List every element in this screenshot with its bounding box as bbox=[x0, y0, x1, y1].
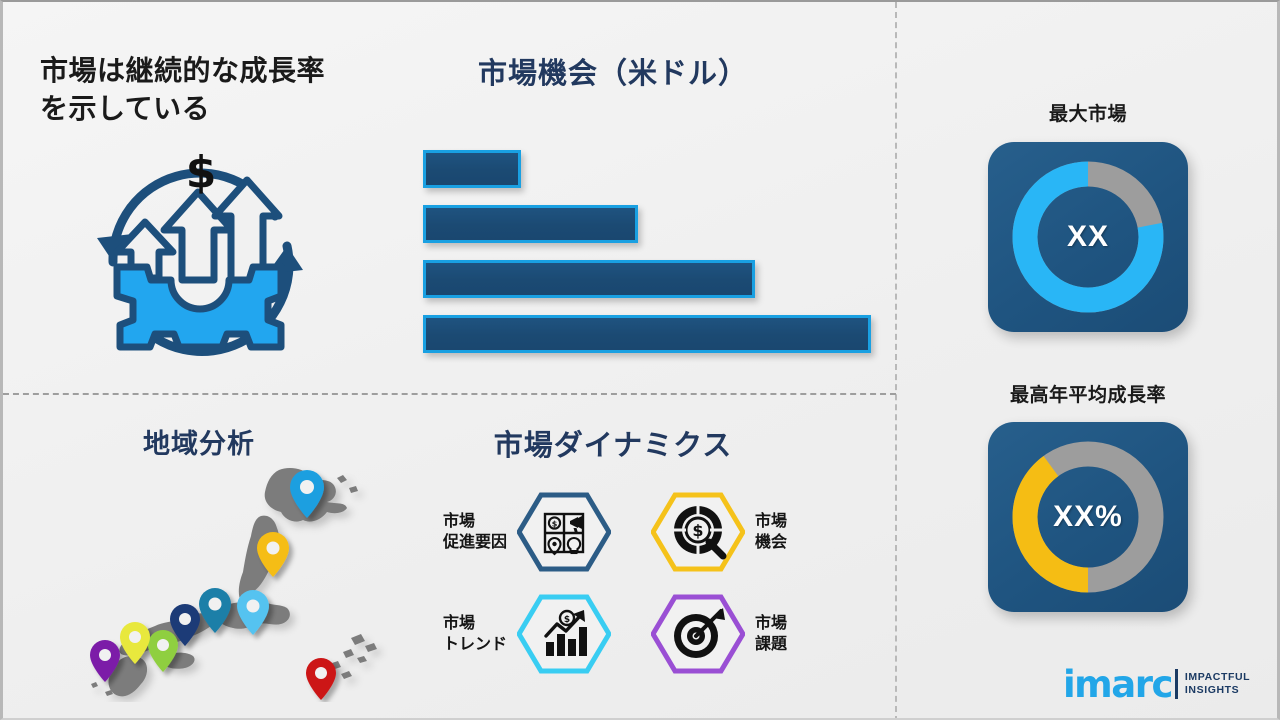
pin-okinawa bbox=[306, 658, 336, 700]
svg-text:$: $ bbox=[552, 520, 558, 529]
kpi-card-highest-cagr: XX% bbox=[988, 422, 1188, 612]
dynamics-label-trends: 市場 トレンド bbox=[443, 613, 507, 655]
kpi-card-largest-market: XX bbox=[988, 142, 1188, 332]
logo-tagline-line2: INSIGHTS bbox=[1185, 684, 1250, 697]
dynamics-label-challenges: 市場 課題 bbox=[755, 613, 787, 655]
growth-headline: 市場は継続的な成長率 を示している bbox=[40, 52, 390, 127]
bar-row-3 bbox=[423, 315, 871, 353]
kpi-value-largest-market: XX bbox=[988, 142, 1188, 332]
kpi-title-highest-cagr: 最高年平均成長率 bbox=[958, 380, 1218, 407]
target-arrow-icon bbox=[651, 594, 745, 674]
growth-bar-chart-icon: $ bbox=[517, 594, 611, 674]
logo-tagline: IMPACTFUL INSIGHTS bbox=[1185, 671, 1250, 697]
dynamics-label-drivers: 市場 促進要因 bbox=[443, 511, 507, 553]
bar-row-1 bbox=[423, 205, 638, 243]
market-opportunity-bar-chart bbox=[423, 150, 883, 350]
dollar-magnifier-icon: $ bbox=[651, 492, 745, 572]
dynamics-item-challenges[interactable]: 市場 課題 bbox=[651, 596, 851, 672]
logo-tagline-line1: IMPACTFUL bbox=[1185, 671, 1250, 684]
dynamics-item-drivers[interactable]: 市場 促進要因 $ bbox=[411, 494, 611, 570]
dynamics-label-opportunities: 市場 機会 bbox=[755, 511, 787, 553]
svg-text:$: $ bbox=[564, 615, 570, 625]
market-opportunity-title: 市場機会（米ドル） bbox=[403, 50, 823, 92]
dynamics-item-opportunities[interactable]: $ 市場 機会 bbox=[651, 494, 851, 570]
market-dynamics-title: 市場ダイナミクス bbox=[403, 422, 823, 464]
growth-gear-arrows-icon: $ bbox=[75, 134, 325, 369]
infographic-slide: 市場は継続的な成長率 を示している $ 市場機会（米ドル） 地域分析 bbox=[0, 0, 1280, 720]
puzzle-pieces-icon: $ bbox=[517, 492, 611, 572]
japan-map bbox=[65, 462, 395, 702]
imarc-logo: imarc IMPACTFUL INSIGHTS bbox=[1063, 662, 1263, 706]
dollar-symbol: $ bbox=[186, 147, 217, 198]
logo-divider bbox=[1175, 669, 1178, 699]
vertical-divider bbox=[895, 2, 897, 720]
bar-row-2 bbox=[423, 260, 755, 298]
dynamics-item-trends[interactable]: 市場 トレンド $ bbox=[411, 596, 611, 672]
horizontal-divider bbox=[3, 393, 896, 395]
kpi-value-highest-cagr: XX% bbox=[988, 422, 1188, 612]
bar-row-0 bbox=[423, 150, 521, 188]
regional-analysis-title: 地域分析 bbox=[143, 422, 255, 461]
svg-text:$: $ bbox=[692, 521, 703, 540]
kpi-title-largest-market: 最大市場 bbox=[958, 99, 1218, 126]
logo-wordmark: imarc bbox=[1063, 666, 1172, 703]
